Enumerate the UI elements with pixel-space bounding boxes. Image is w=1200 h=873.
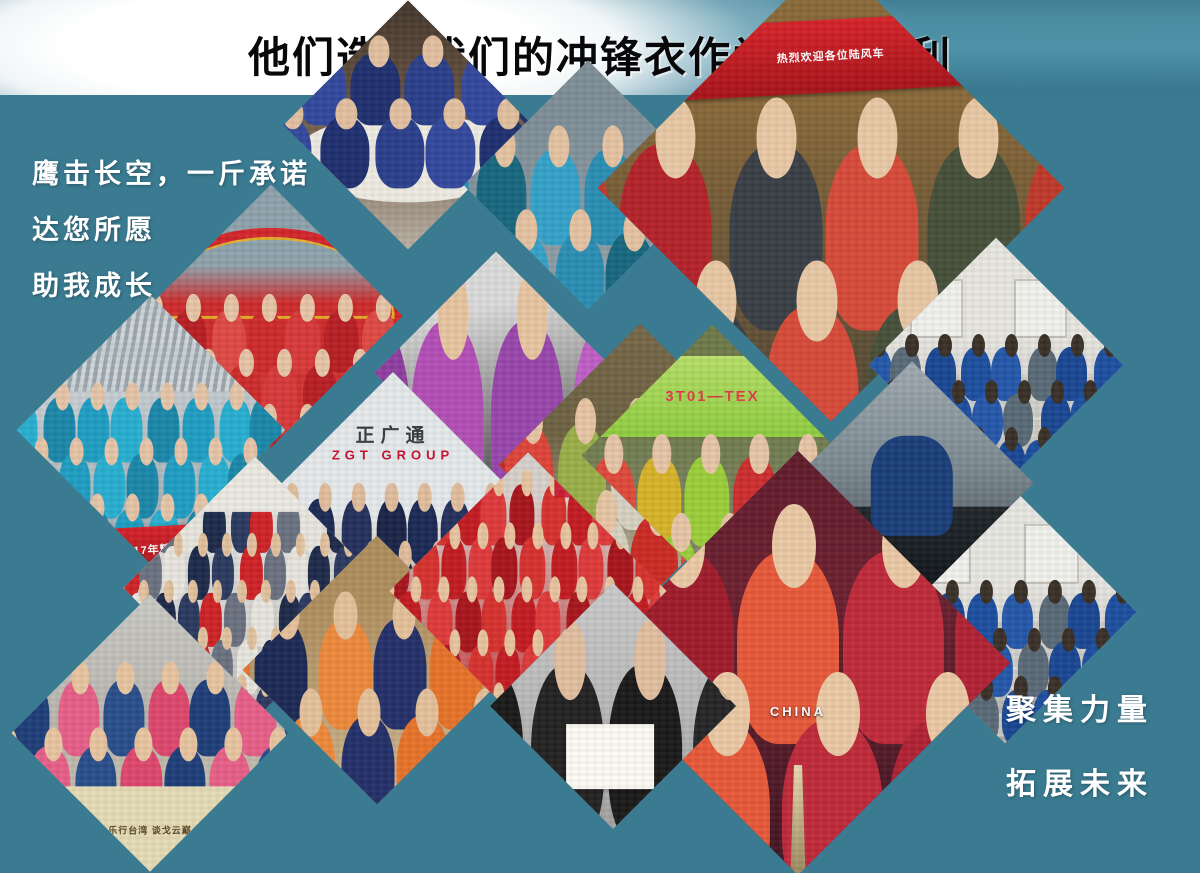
slogan-right: 聚集力量 拓展未来 — [1006, 685, 1154, 833]
drawing-card — [566, 724, 655, 789]
slogan-left-line-0: 鹰击长空，一斤承诺 — [32, 152, 311, 191]
classroom-window — [1024, 523, 1079, 584]
poster-canvas: 他们选择我们的冲锋衣作为公司福利 热烈欢迎各位陆风车3T01—TEX驿业2017… — [0, 0, 1200, 873]
trophy-icon — [778, 765, 819, 873]
hike-banner: 乐行台湾 谈戈云巅 — [17, 786, 284, 871]
slogan-right-line-1: 拓展未来 — [1006, 759, 1154, 803]
person-in-car — [871, 436, 953, 535]
slogan-left-line-1: 达您所愿 — [32, 208, 311, 247]
slogan-right-line-0: 聚集力量 — [1006, 685, 1154, 729]
slogan-left: 鹰击长空，一斤承诺 达您所愿 助我成长 — [32, 152, 311, 320]
slogan-left-line-2: 助我成长 — [32, 264, 311, 303]
classroom-window — [1014, 279, 1067, 338]
